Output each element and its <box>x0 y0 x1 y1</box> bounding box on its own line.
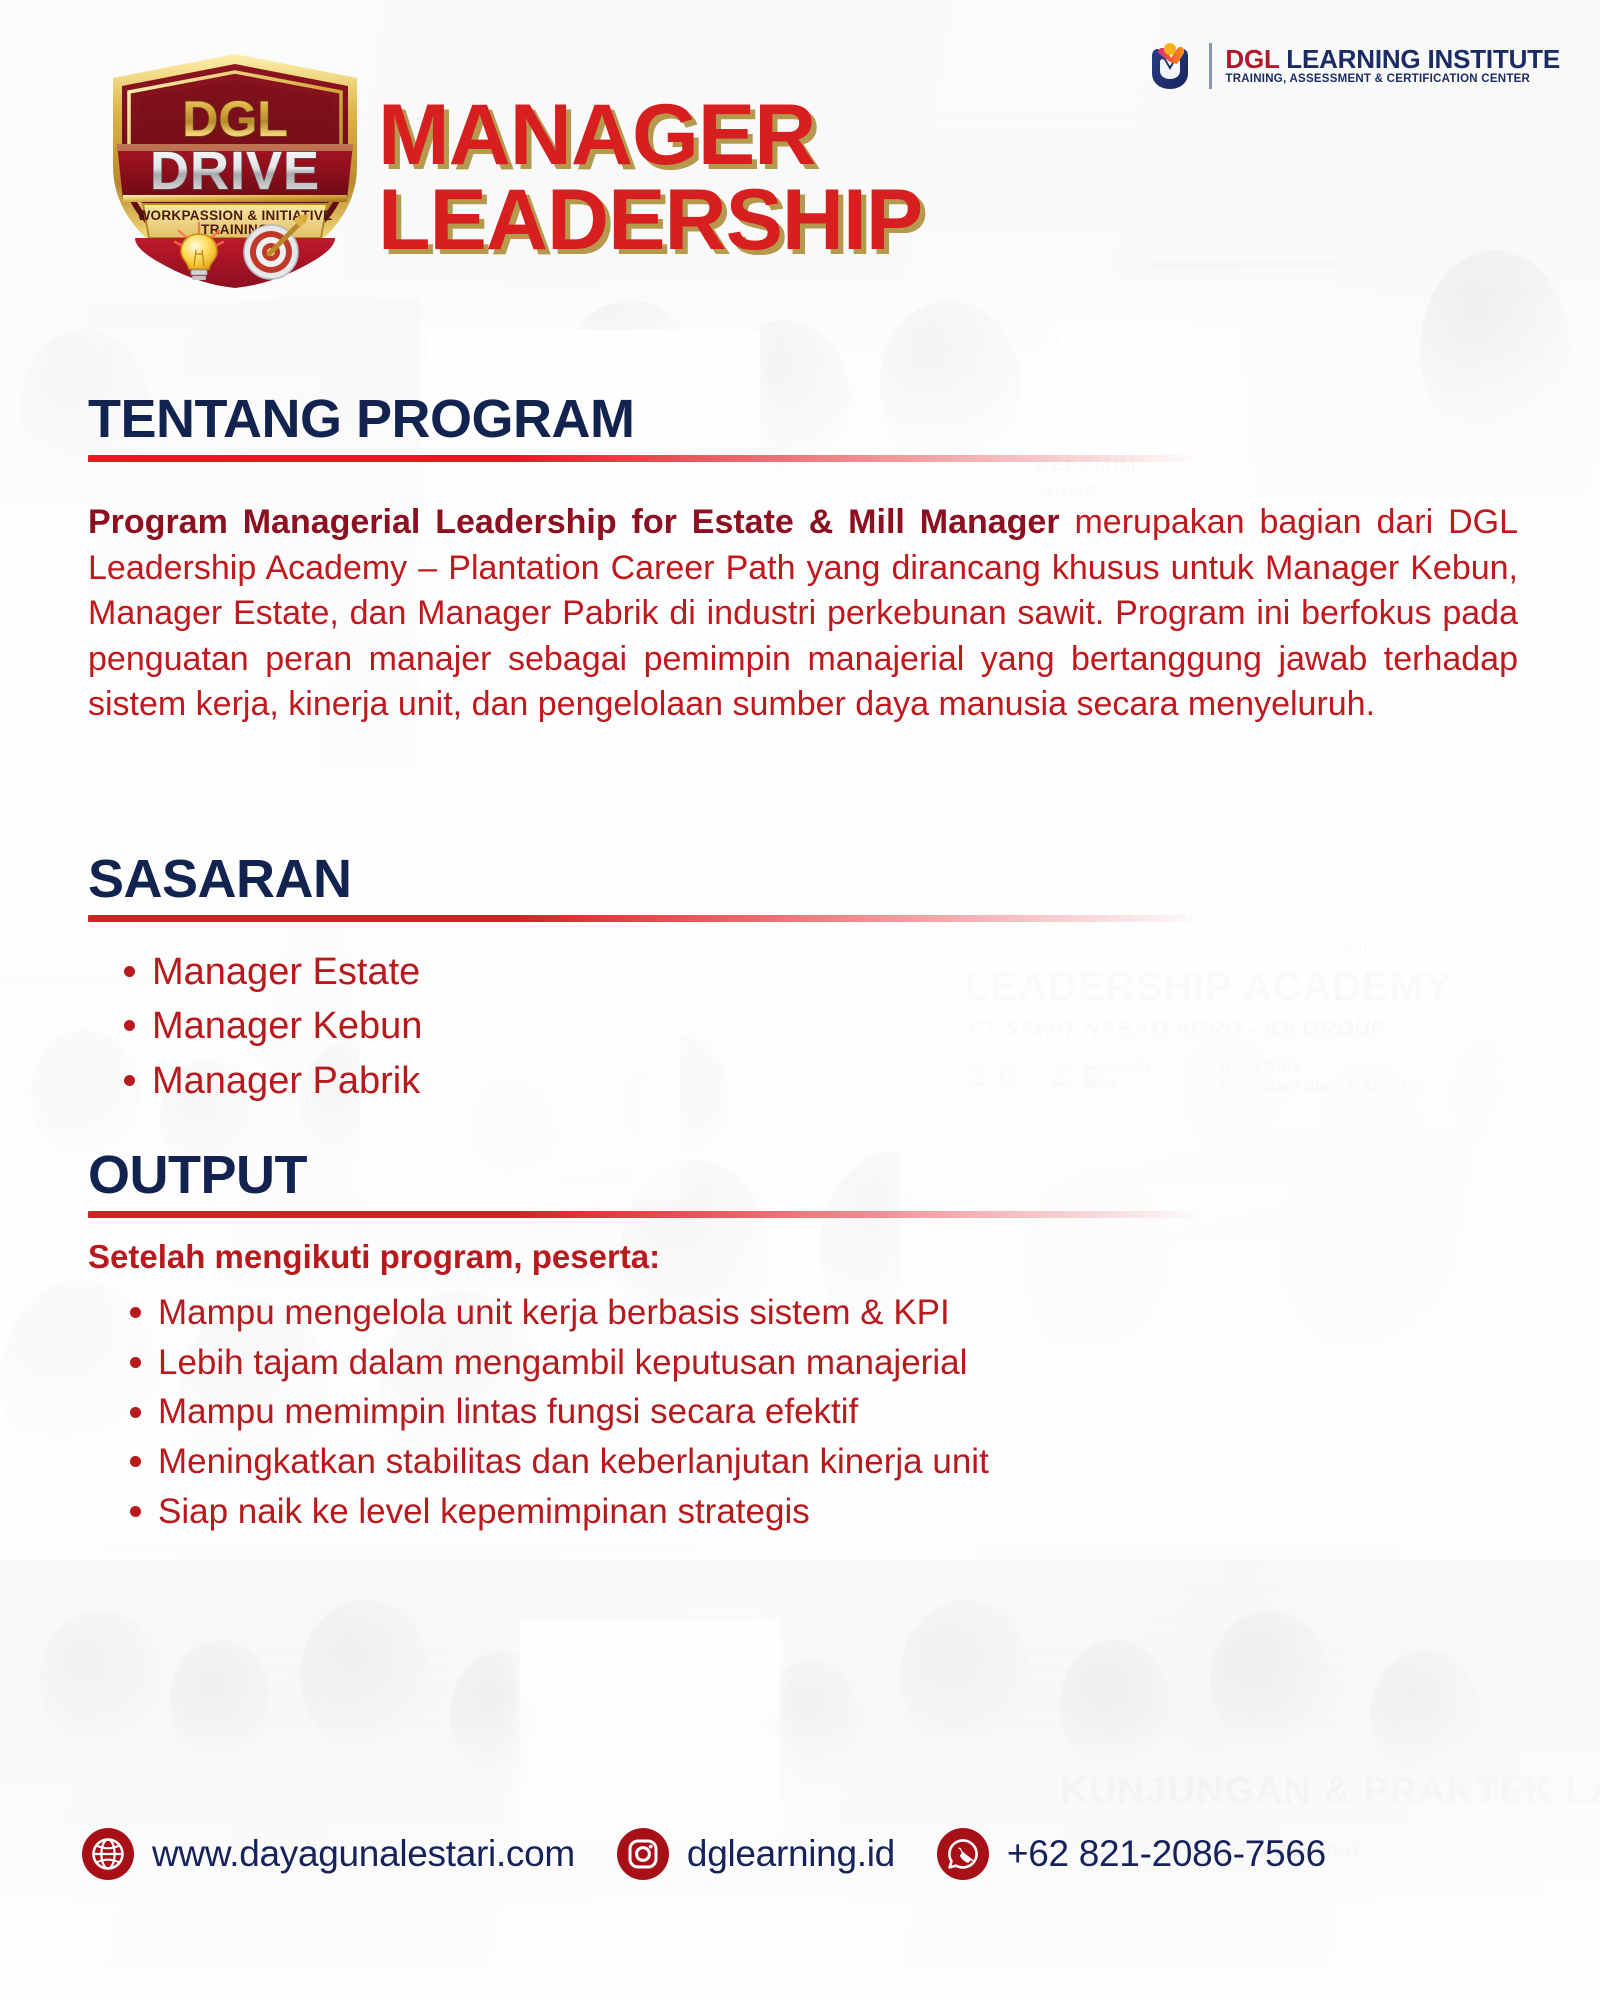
about-body-paragraph: Program Managerial Leadership for Estate… <box>88 500 1518 728</box>
contact-whatsapp[interactable]: +62 821-2086-7566 <box>937 1828 1326 1880</box>
poster-title-line-1: MANAGER <box>378 96 922 175</box>
logo-divider <box>1209 43 1212 89</box>
website-text: www.dayagunalestari.com <box>152 1833 575 1875</box>
section-about-heading: TENTANG PROGRAM <box>88 392 1203 462</box>
dgl-learning-institute-logo: DGL LEARNING INSTITUTE TRAINING, ASSESSM… <box>1144 40 1560 92</box>
sasaran-heading-text: SASARAN <box>88 852 1203 906</box>
poster-title-line-2: LEADERSHIP <box>378 181 922 260</box>
contact-bar: www.dayagunalestari.com dglearning.id <box>82 1828 1326 1880</box>
list-item: Manager Kebun <box>110 999 422 1053</box>
dgl-hands-person-mark-icon <box>1144 40 1196 92</box>
institute-name-part-2: LEARNING INSTITUTE <box>1286 44 1560 74</box>
output-lead-text: Setelah mengikuti program, peserta: <box>88 1238 660 1276</box>
svg-text:DGL: DGL <box>182 91 288 147</box>
shield-icon: DGL DRIVE WORKPASSION & INITIATIVE TRAIN… <box>95 48 375 293</box>
list-item: Meningkatkan stabilitas dan keberlanjuta… <box>116 1437 989 1487</box>
institute-name: DGL LEARNING INSTITUTE <box>1225 46 1560 72</box>
whatsapp-icon <box>937 1828 989 1880</box>
list-item: Manager Estate <box>110 945 422 999</box>
dgl-drive-logo: DGL DRIVE WORKPASSION & INITIATIVE TRAIN… <box>95 48 375 293</box>
whatsapp-text: +62 821-2086-7566 <box>1007 1833 1326 1875</box>
list-item: Mampu mengelola unit kerja berbasis sist… <box>116 1288 989 1338</box>
output-heading-text: OUTPUT <box>88 1148 1203 1202</box>
contact-website[interactable]: www.dayagunalestari.com <box>82 1828 575 1880</box>
poster-header: DGL DRIVE WORKPASSION & INITIATIVE TRAIN… <box>0 0 1600 320</box>
sasaran-heading-rule <box>88 915 1203 922</box>
list-item: Manager Pabrik <box>110 1054 422 1108</box>
about-heading-rule <box>88 455 1203 462</box>
about-body-bold: Program Managerial Leadership for Estate… <box>88 503 1060 541</box>
institute-name-part-1: DGL <box>1225 44 1286 74</box>
about-heading-text: TENTANG PROGRAM <box>88 392 1203 446</box>
instagram-icon <box>617 1828 669 1880</box>
section-sasaran-heading: SASARAN <box>88 852 1203 922</box>
globe-icon <box>82 1828 134 1880</box>
output-heading-rule <box>88 1211 1203 1218</box>
list-item: Siap naik ke level kepemimpinan strategi… <box>116 1487 989 1537</box>
section-output-heading: OUTPUT <box>88 1148 1203 1218</box>
output-list: Mampu mengelola unit kerja berbasis sist… <box>116 1288 989 1536</box>
contact-instagram[interactable]: dglearning.id <box>617 1828 895 1880</box>
instagram-text: dglearning.id <box>687 1833 895 1875</box>
list-item: Lebih tajam dalam mengambil keputusan ma… <box>116 1338 989 1388</box>
poster-canvas: DAYA GUNA LESTARI IOI GROUP LEADERSHIP A… <box>0 0 1600 2000</box>
sasaran-list: Manager Estate Manager Kebun Manager Pab… <box>110 945 422 1108</box>
institute-subtitle: TRAINING, ASSESSMENT & CERTIFICATION CEN… <box>1225 74 1560 86</box>
svg-text:DRIVE: DRIVE <box>150 141 320 201</box>
list-item: Mampu memimpin lintas fungsi secara efek… <box>116 1387 989 1437</box>
poster-title-block: MANAGER LEADERSHIP <box>378 96 922 260</box>
poster-footer: www.dayagunalestari.com dglearning.id <box>0 1790 1600 2000</box>
